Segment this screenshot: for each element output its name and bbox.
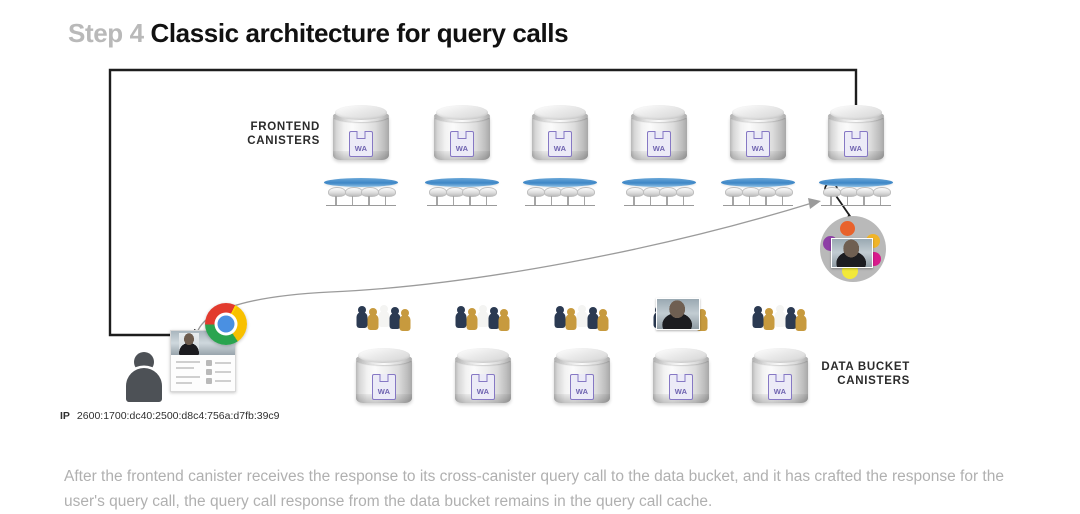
user-figurine-icon (398, 309, 411, 330)
data-bucket-users-3 (551, 296, 609, 330)
subnet-node-cap (479, 187, 497, 197)
browser-text-line (215, 362, 231, 364)
subnet-node-stem (486, 196, 488, 205)
frontend-label-line-2: CANISTERS (240, 134, 320, 148)
bucket-label-line-2: CANISTERS (800, 374, 910, 388)
subnet-node-stem (385, 196, 387, 205)
subnet-node-cap (758, 187, 776, 197)
canister-tag-icon: WA (647, 131, 671, 157)
avatar-body (126, 368, 162, 402)
data-bucket-users-5 (749, 296, 807, 330)
subnet-node-stem (567, 196, 569, 205)
subnet-ellipse (721, 178, 795, 187)
subnet-node-cap (345, 187, 363, 197)
subnet-node-stem (847, 196, 849, 205)
canister-tag-icon: WA (844, 131, 868, 157)
subnet-node-cap (429, 187, 447, 197)
figurine-body (399, 315, 410, 331)
user-silhouette-icon (122, 352, 166, 402)
canister-lid (556, 348, 609, 363)
frontend-subnet-2 (425, 178, 499, 206)
identity-photo (831, 238, 873, 268)
ip-address-line: IP2600:1700:dc40:2500:d8c4:756a:d7fb:39c… (60, 410, 280, 422)
subnet-node-stem (534, 196, 536, 205)
subnet-node-cap (462, 187, 480, 197)
subnet-node-cap (676, 187, 694, 197)
ip-value: 2600:1700:dc40:2500:d8c4:756a:d7fb:39c9 (77, 410, 280, 422)
canister-beam (766, 328, 790, 350)
data-bucket-canister-4[interactable]: WA (653, 348, 709, 408)
diagram-canvas: Step 4 Classic architecture for query ca… (0, 0, 1080, 503)
frontend-canister-1[interactable]: WA (333, 105, 389, 165)
canister-tag-label: WA (774, 387, 786, 399)
subnet-ellipse (622, 178, 696, 187)
subnet-node-stem (863, 196, 865, 205)
canister-beam (667, 328, 691, 350)
canister-lid (436, 105, 489, 120)
canister-tag-label: WA (675, 387, 687, 399)
canister-tag-icon: WA (768, 374, 792, 400)
title-headline: Classic architecture for query calls (150, 18, 568, 48)
identity-bubble[interactable] (820, 216, 886, 282)
canister-lid (754, 348, 807, 363)
canister-beam (370, 328, 394, 350)
browser-text-line (176, 376, 200, 378)
subnet-node-cap (725, 187, 743, 197)
data-bucket-canisters-label: DATA BUCKET CANISTERS (800, 360, 910, 388)
data-bucket-canister-2[interactable]: WA (455, 348, 511, 408)
frontend-canisters-label: FRONTEND CANISTERS (240, 120, 320, 148)
canister-tag-label: WA (355, 144, 367, 156)
chrome-icon[interactable] (205, 303, 247, 345)
identity-dot-1 (840, 221, 855, 236)
frontend-subnet-6 (819, 178, 893, 206)
canister-tag-label: WA (378, 387, 390, 399)
canister-tag-icon: WA (471, 374, 495, 400)
subnet-node-stem (633, 196, 635, 205)
canister-tag-icon: WA (349, 131, 373, 157)
canister-lid (457, 348, 510, 363)
subnet-node-stem (453, 196, 455, 205)
browser-text-line (176, 361, 200, 363)
canister-lid (335, 105, 388, 120)
canister-lid (830, 105, 883, 120)
subnet-node-stem (650, 196, 652, 205)
figurine-body (498, 315, 509, 331)
canister-tag-label: WA (477, 387, 489, 399)
user-photo (656, 298, 700, 330)
subnet-node-stem (469, 196, 471, 205)
canister-tag-label: WA (576, 387, 588, 399)
subnet-ellipse (523, 178, 597, 187)
browser-text-line (176, 382, 192, 384)
subnet-node-cap (659, 187, 677, 197)
subnet-node-stem (436, 196, 438, 205)
ip-label: IP (60, 410, 70, 422)
data-bucket-users-2 (452, 296, 510, 330)
caption-text: After the frontend canister receives the… (64, 464, 1024, 514)
subnet-node-cap (544, 187, 562, 197)
subnet-node-cap (577, 187, 595, 197)
subnet-node-cap (742, 187, 760, 197)
canister-tag-label: WA (653, 144, 665, 156)
subnet-node-stem (830, 196, 832, 205)
connector-lines (0, 0, 1080, 503)
page-title: Step 4 Classic architecture for query ca… (68, 18, 568, 49)
canister-tag-label: WA (554, 144, 566, 156)
subnet-node-stem (584, 196, 586, 205)
subnet-node-stem (368, 196, 370, 205)
frontend-subnet-1 (324, 178, 398, 206)
subnet-node-stem (666, 196, 668, 205)
frontend-subnet-3 (523, 178, 597, 206)
canister-tag-label: WA (456, 144, 468, 156)
canister-beam (469, 328, 493, 350)
subnet-node-cap (873, 187, 891, 197)
subnet-node-stem (765, 196, 767, 205)
subnet-node-stem (749, 196, 751, 205)
data-bucket-canister-5[interactable]: WA (752, 348, 808, 408)
subnet-node-cap (823, 187, 841, 197)
frontend-canister-6[interactable]: WA (828, 105, 884, 165)
user-figurine-icon (497, 309, 510, 330)
canister-lid (655, 348, 708, 363)
browser-text-line (176, 367, 194, 369)
canister-tag-icon: WA (746, 131, 770, 157)
frontend-canister-2[interactable]: WA (434, 105, 490, 165)
subnet-node-cap (626, 187, 644, 197)
browser-text-line (215, 371, 231, 373)
subnet-ellipse (819, 178, 893, 187)
frontend-canister-4[interactable]: WA (631, 105, 687, 165)
canister-tag-label: WA (850, 144, 862, 156)
subnet-node-cap (643, 187, 661, 197)
canister-beam (568, 328, 592, 350)
browser-text-line (215, 380, 231, 382)
subnet-node-cap (446, 187, 464, 197)
canister-tag-label: WA (752, 144, 764, 156)
subnet-node-cap (527, 187, 545, 197)
canister-tag-icon: WA (548, 131, 572, 157)
frontend-label-line-1: FRONTEND (240, 120, 320, 134)
step-label: Step 4 (68, 18, 144, 48)
data-bucket-users-4 (650, 296, 708, 330)
subnet-node-stem (732, 196, 734, 205)
browser-list-icon (206, 378, 212, 384)
browser-list-icon (206, 360, 212, 366)
frontend-subnet-4 (622, 178, 696, 206)
bucket-label-line-1: DATA BUCKET (800, 360, 910, 374)
subnet-node-stem (352, 196, 354, 205)
subnet-ellipse (425, 178, 499, 187)
subnet-node-cap (328, 187, 346, 197)
figurine-body (795, 315, 806, 331)
canister-tag-icon: WA (450, 131, 474, 157)
canister-tag-icon: WA (669, 374, 693, 400)
canister-tag-icon: WA (372, 374, 396, 400)
canister-tag-icon: WA (570, 374, 594, 400)
subnet-ellipse (324, 178, 398, 187)
subnet-node-stem (880, 196, 882, 205)
user-figurine-icon (596, 309, 609, 330)
canister-lid (732, 105, 785, 120)
subnet-node-stem (683, 196, 685, 205)
subnet-node-stem (782, 196, 784, 205)
user-figurine-icon (794, 309, 807, 330)
browser-list-icon (206, 369, 212, 375)
subnet-node-cap (856, 187, 874, 197)
subnet-node-cap (378, 187, 396, 197)
frontend-canister-5[interactable]: WA (730, 105, 786, 165)
frontend-canister-3[interactable]: WA (532, 105, 588, 165)
subnet-node-stem (551, 196, 553, 205)
data-bucket-canister-1[interactable]: WA (356, 348, 412, 408)
frontend-subnet-5 (721, 178, 795, 206)
data-bucket-users-1 (353, 296, 411, 330)
data-bucket-canister-3[interactable]: WA (554, 348, 610, 408)
subnet-node-stem (335, 196, 337, 205)
subnet-node-cap (775, 187, 793, 197)
canister-lid (633, 105, 686, 120)
subnet-node-cap (361, 187, 379, 197)
subnet-node-cap (840, 187, 858, 197)
subnet-node-cap (560, 187, 578, 197)
canister-lid (358, 348, 411, 363)
figurine-body (597, 315, 608, 331)
canister-lid (534, 105, 587, 120)
